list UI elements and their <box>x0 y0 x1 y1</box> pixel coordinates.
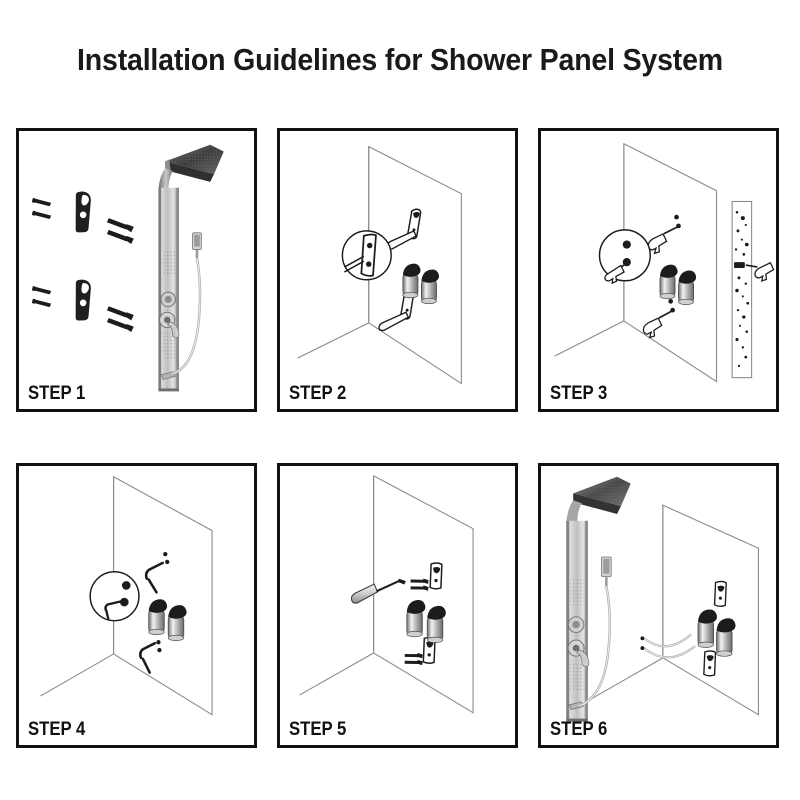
wall-line-art <box>588 505 759 714</box>
hose-port-cold <box>640 646 644 650</box>
wall-bracket-plate-lower <box>76 280 91 321</box>
water-inlet-connectors <box>403 264 439 304</box>
step-panel-3: STEP 3 <box>538 128 779 412</box>
drill-upper <box>648 215 681 254</box>
water-inlet-connectors <box>698 609 735 656</box>
step-panel-6: STEP 6 <box>538 463 779 748</box>
supply-hose-cold <box>644 646 695 657</box>
marked-hole-lower-2 <box>156 640 160 644</box>
wall-line-art <box>300 476 474 713</box>
wall-anchor-pair-upper <box>32 198 51 219</box>
mounting-screw-pair-upper <box>107 218 134 244</box>
page-title: Installation Guidelines for Shower Panel… <box>32 42 768 78</box>
supply-hose-hot <box>644 634 691 646</box>
step-label-6: STEP 6 <box>550 719 607 741</box>
screwdriver <box>351 579 405 604</box>
step-6-illustration <box>541 466 776 745</box>
bracket-plate-upper <box>430 563 442 589</box>
step-label-2: STEP 2 <box>289 383 346 405</box>
bracket-upper <box>387 209 421 249</box>
step-panel-5: STEP 5 <box>277 463 518 748</box>
step-label-4: STEP 4 <box>28 719 85 741</box>
panel-template-strip <box>732 201 752 377</box>
step-4-illustration <box>19 466 254 745</box>
step-label-1: STEP 1 <box>28 383 85 405</box>
step-3-illustration <box>541 131 776 409</box>
wall-bracket-plate-upper <box>76 192 91 233</box>
screw-pair-upper <box>410 579 428 591</box>
step-1-illustration <box>19 131 254 409</box>
hex-key-upper <box>146 563 163 592</box>
shower-panel-product <box>158 145 223 392</box>
hose-port-hot <box>640 636 644 640</box>
bracket-plate-upper <box>715 581 727 606</box>
step-label-3: STEP 3 <box>550 383 607 405</box>
hex-key-lower <box>140 643 155 672</box>
magnifier-detail-drilled-holes <box>600 230 651 283</box>
bracket-plate-lower <box>704 651 716 676</box>
drill-lower <box>643 299 675 338</box>
step-2-illustration <box>280 131 515 409</box>
step-label-5: STEP 5 <box>289 719 346 741</box>
water-inlet-connectors <box>149 599 187 640</box>
marked-hole-lower <box>157 648 161 652</box>
water-inlet-connectors <box>407 600 446 643</box>
step-panel-1: STEP 1 <box>16 128 257 412</box>
wall-anchor-pair-lower <box>32 286 51 307</box>
marked-hole-upper-2 <box>163 552 167 556</box>
step-panel-4: STEP 4 <box>16 463 257 748</box>
screw-pair-lower <box>405 653 423 665</box>
step-5-illustration <box>280 466 515 745</box>
steps-grid: STEP 1 <box>16 128 788 748</box>
shower-panel-product <box>566 477 630 722</box>
water-inlet-connectors <box>660 265 696 305</box>
marked-hole-upper <box>165 560 169 564</box>
mounting-screw-pair-lower <box>107 306 134 332</box>
magnifier-detail-anchors <box>90 572 139 621</box>
magnifier-detail-bracket <box>342 231 391 280</box>
step-panel-2: STEP 2 <box>277 128 518 412</box>
